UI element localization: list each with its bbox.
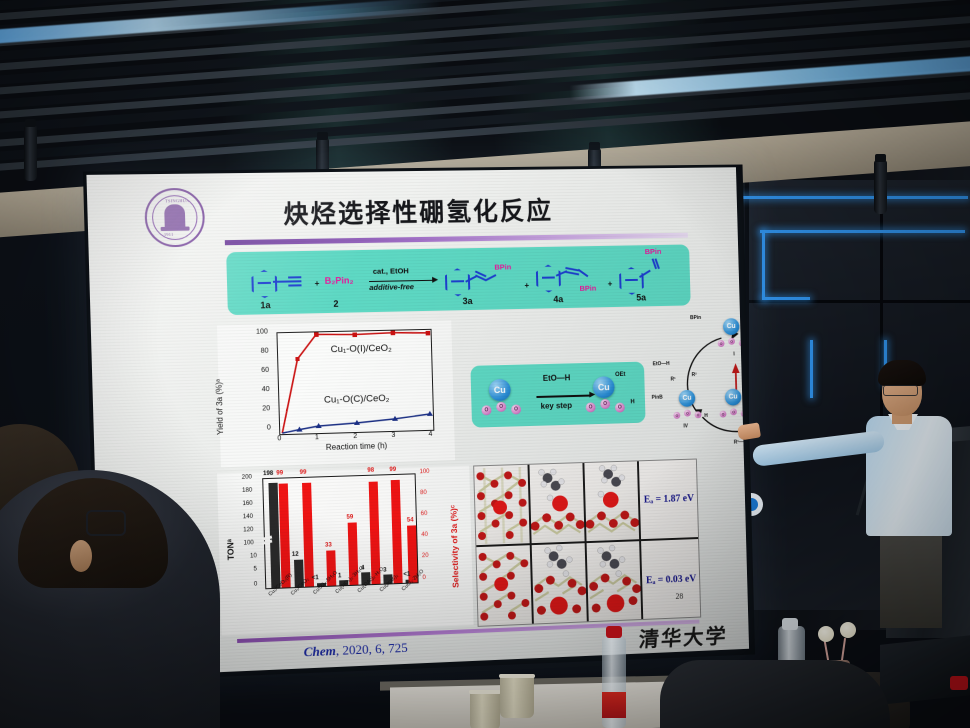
paper-cup-2 bbox=[500, 674, 534, 718]
xtick-1: 1 bbox=[315, 434, 319, 441]
ceiling-spotlight bbox=[24, 125, 37, 181]
line-chart-plot: Cu₁-O(I)/CeO₂ Cu₁-O(C)/CeO₂ bbox=[276, 329, 434, 435]
title-divider bbox=[225, 233, 688, 246]
citation-journal: Chem bbox=[303, 643, 336, 659]
audience-glasses-icon bbox=[86, 510, 126, 536]
bc-ytick-5: 5 bbox=[253, 566, 257, 572]
ytick-20: 20 bbox=[262, 405, 270, 412]
bar-value-ton-1: 198 bbox=[263, 471, 273, 477]
tsinghua-wordmark: 清华大学 bbox=[638, 620, 728, 653]
dft-cell-1 bbox=[474, 465, 531, 545]
series-label-cu-o-c: Cu₁-O(C)/CeO₂ bbox=[324, 393, 390, 406]
dft-cell-2 bbox=[529, 463, 586, 543]
key-step-reagent: EtO—H bbox=[543, 373, 571, 383]
key-step-diagram: Cu O O O EtO—H key step Cu OEt O O O H bbox=[470, 362, 645, 428]
citation: Chem, 2020, 6, 725 bbox=[303, 640, 407, 661]
bc-ytick-180: 180 bbox=[242, 488, 252, 494]
plus-sign-3: + bbox=[608, 279, 613, 288]
cu-atom-left: Cu bbox=[489, 379, 511, 401]
cycle-label-etoh-left: EtO—H bbox=[653, 361, 670, 367]
label-bpin-4a: BPin bbox=[579, 284, 596, 293]
bar-value-sel-5: 98 bbox=[367, 468, 374, 474]
cycle-species-I: I bbox=[733, 351, 734, 357]
bc-ytick-0: 0 bbox=[254, 582, 258, 588]
cycle-label-pinb: PinB bbox=[652, 395, 663, 401]
speaker-legs bbox=[880, 530, 942, 628]
o-atom-4: O bbox=[586, 402, 596, 412]
bottle-cap-1 bbox=[606, 626, 622, 638]
o-atom-6: O bbox=[615, 403, 625, 413]
led-strip bbox=[760, 230, 965, 233]
bc-ytick-10: 10 bbox=[250, 553, 257, 559]
audience-ear bbox=[70, 540, 92, 572]
molecule-4a bbox=[536, 264, 561, 292]
xtick-4: 4 bbox=[428, 431, 432, 438]
label-oet: OEt bbox=[615, 372, 626, 378]
bc-rtick-0: 0 bbox=[422, 575, 426, 581]
compound-label-2: 2 bbox=[333, 299, 338, 309]
compound-label-5a: 5a bbox=[636, 293, 646, 303]
series-label-cu-o-i: Cu₁-O(I)/CeO₂ bbox=[331, 343, 392, 355]
bottle-cap-2 bbox=[782, 618, 798, 630]
condition-top: cat., EtOH bbox=[373, 266, 409, 276]
speaker-presenter bbox=[836, 352, 961, 628]
ton-selectivity-chart: TONᵃ Selectivity of 3a (%)ᶜ bbox=[217, 466, 474, 636]
compound-label-1a: 1a bbox=[260, 300, 270, 310]
bar-value-ton-7: <1 bbox=[403, 572, 410, 578]
xtick-0: 0 bbox=[277, 435, 281, 442]
bc-ytick-140: 140 bbox=[243, 514, 253, 520]
cycle-label-bpin-top: BPin bbox=[690, 315, 701, 321]
bc-ytick-120: 120 bbox=[243, 527, 253, 533]
bc-ytick-100: 100 bbox=[244, 540, 254, 546]
cu-atom-right: Cu bbox=[593, 376, 615, 398]
led-strip bbox=[762, 297, 810, 300]
label-hydrogen: H bbox=[630, 399, 634, 405]
citation-details: , 2020, 6, 725 bbox=[336, 640, 408, 658]
bar-value-ton-2: 12 bbox=[292, 552, 299, 558]
bc-rtick-40: 40 bbox=[421, 532, 428, 538]
plus-sign-2: + bbox=[524, 281, 529, 290]
bottle-cap-3 bbox=[950, 676, 968, 690]
bc-rtick-100: 100 bbox=[419, 469, 429, 475]
ytick-100: 100 bbox=[256, 328, 268, 335]
condition-bottom: additive-free bbox=[369, 282, 414, 292]
speaker-hair bbox=[878, 360, 926, 386]
ytick-80: 80 bbox=[261, 348, 269, 355]
bar-value-sel-7: 54 bbox=[407, 517, 414, 523]
glasses-icon bbox=[883, 385, 918, 396]
bottle-label-1 bbox=[602, 692, 626, 718]
bar-value-sel-4: 59 bbox=[346, 514, 353, 520]
o-atom-2: O bbox=[496, 402, 506, 412]
ytick-0: 0 bbox=[267, 424, 271, 431]
paper-cup-1 bbox=[470, 690, 500, 728]
bar-sel-2 bbox=[302, 483, 314, 587]
ytick-40: 40 bbox=[262, 386, 270, 393]
bc-ytick-160: 160 bbox=[242, 501, 252, 507]
xtick-3: 3 bbox=[391, 432, 395, 439]
cycle-label-r1: R¹ bbox=[670, 377, 675, 383]
bc-rtick-60: 60 bbox=[421, 511, 428, 517]
reaction-scheme: + B₂Pin₂ cat., EtOH additive-free BPin + bbox=[226, 244, 691, 315]
plus-sign-1: + bbox=[315, 279, 320, 288]
slide-title: 炔烃选择性硼氢化反应 bbox=[87, 189, 737, 234]
bar-value-sel-2: 99 bbox=[300, 470, 307, 476]
compound-label-3a: 3a bbox=[462, 296, 472, 306]
presentation-photo: TSINGHUA 1911 炔烃选择性硼氢化反应 + B₂Pin₂ cat. bbox=[0, 0, 970, 728]
dft-structure-panel: Eₐ = 1.87 eV Eₐ = 0.03 eV 28 bbox=[473, 459, 701, 627]
bar-chart-ylabel-right: Selectivity of 3a (%)ᶜ bbox=[448, 480, 461, 588]
dft-cell-4 bbox=[476, 545, 533, 626]
laptop bbox=[880, 635, 970, 705]
bar-value-sel-6: 99 bbox=[389, 467, 396, 473]
dft-cell-3 bbox=[584, 461, 641, 541]
dft-cell-6 bbox=[587, 541, 644, 621]
molecule-5a bbox=[619, 267, 644, 295]
bc-ytick-200: 200 bbox=[242, 474, 252, 480]
key-step-caption: key step bbox=[541, 401, 573, 411]
label-bpin-5a: BPin bbox=[645, 247, 662, 256]
catalytic-cycle-diagram: Cu Cu Cu Cu O O O O O O O O O O O O OEt … bbox=[649, 312, 749, 454]
molecule-3a bbox=[445, 268, 471, 296]
bar-value-ton-3: <1 bbox=[312, 575, 319, 581]
bar-chart-ylabel: TONᵃ bbox=[223, 479, 236, 560]
led-strip bbox=[762, 230, 765, 300]
bc-rtick-80: 80 bbox=[420, 490, 427, 496]
slide-page-number: 28 bbox=[675, 592, 683, 601]
o-atom-1: O bbox=[481, 405, 491, 415]
activation-energy-bottom: Eₐ = 0.03 eV bbox=[646, 573, 696, 586]
molecule-1a bbox=[251, 270, 277, 299]
xtick-2: 2 bbox=[353, 433, 357, 440]
o-atom-3: O bbox=[511, 404, 521, 414]
bc-rtick-20: 20 bbox=[422, 553, 429, 559]
ceiling-spotlight bbox=[874, 160, 887, 214]
bar-value-sel-3: 33 bbox=[325, 542, 332, 548]
cycle-species-IV: IV bbox=[683, 423, 688, 429]
line-chart-xlabel: Reaction time (h) bbox=[280, 440, 433, 454]
flower-2 bbox=[840, 622, 856, 638]
activation-energy-top: Eₐ = 1.87 eV bbox=[644, 493, 694, 506]
bar-value-sel-1: 99 bbox=[276, 470, 283, 476]
flower-1 bbox=[818, 626, 834, 642]
bar-sel-6 bbox=[391, 480, 403, 583]
cycle-label-r2: R² bbox=[692, 372, 697, 378]
compound-label-4a: 4a bbox=[553, 294, 563, 304]
o-atom-5: O bbox=[600, 399, 610, 409]
line-chart-ylabel: Yield of 3a (%)ᵃ bbox=[213, 333, 225, 435]
reagent-b2pin2: B₂Pin₂ bbox=[325, 275, 354, 286]
ytick-60: 60 bbox=[261, 367, 269, 374]
dft-cell-5 bbox=[532, 543, 589, 623]
audience-member-3 bbox=[660, 660, 890, 728]
label-bpin-3a: BPin bbox=[494, 262, 511, 271]
led-strip bbox=[810, 340, 813, 398]
cycle-label-h-left: H bbox=[704, 413, 708, 419]
yield-vs-time-chart: Yield of 3a (%)ᵃ bbox=[217, 320, 455, 467]
